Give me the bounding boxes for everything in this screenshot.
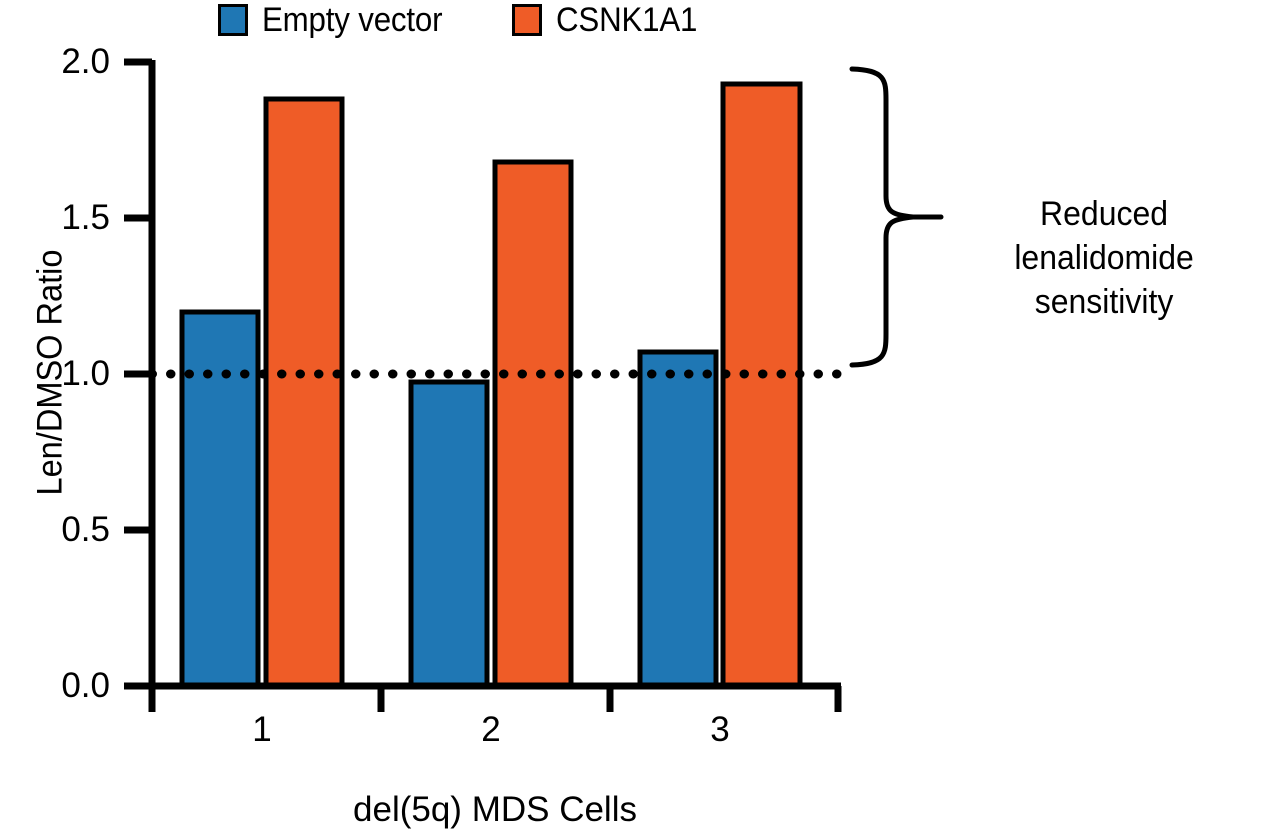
annotation-line-2: sensitivity (948, 280, 1260, 324)
annotation-reduced-lenalidomide-sensitivity: Reduced lenalidomide sensitivity (948, 192, 1260, 324)
annotation-brace-icon (852, 69, 913, 365)
bar-group1-empty-vector[interactable] (182, 312, 258, 686)
plot-area (0, 0, 1280, 836)
bar-group2-csnk1a1[interactable] (495, 162, 571, 686)
bar-group2-empty-vector[interactable] (411, 382, 487, 686)
bar-group3-empty-vector[interactable] (640, 352, 716, 686)
bar-group3-csnk1a1[interactable] (723, 84, 800, 686)
annotation-line-1: Reduced lenalidomide (1014, 195, 1193, 277)
bar-chart-figure: Empty vector CSNK1A1 2.0 1.5 1.0 0.5 0.0… (0, 0, 1280, 836)
bar-group1-csnk1a1[interactable] (266, 99, 342, 686)
